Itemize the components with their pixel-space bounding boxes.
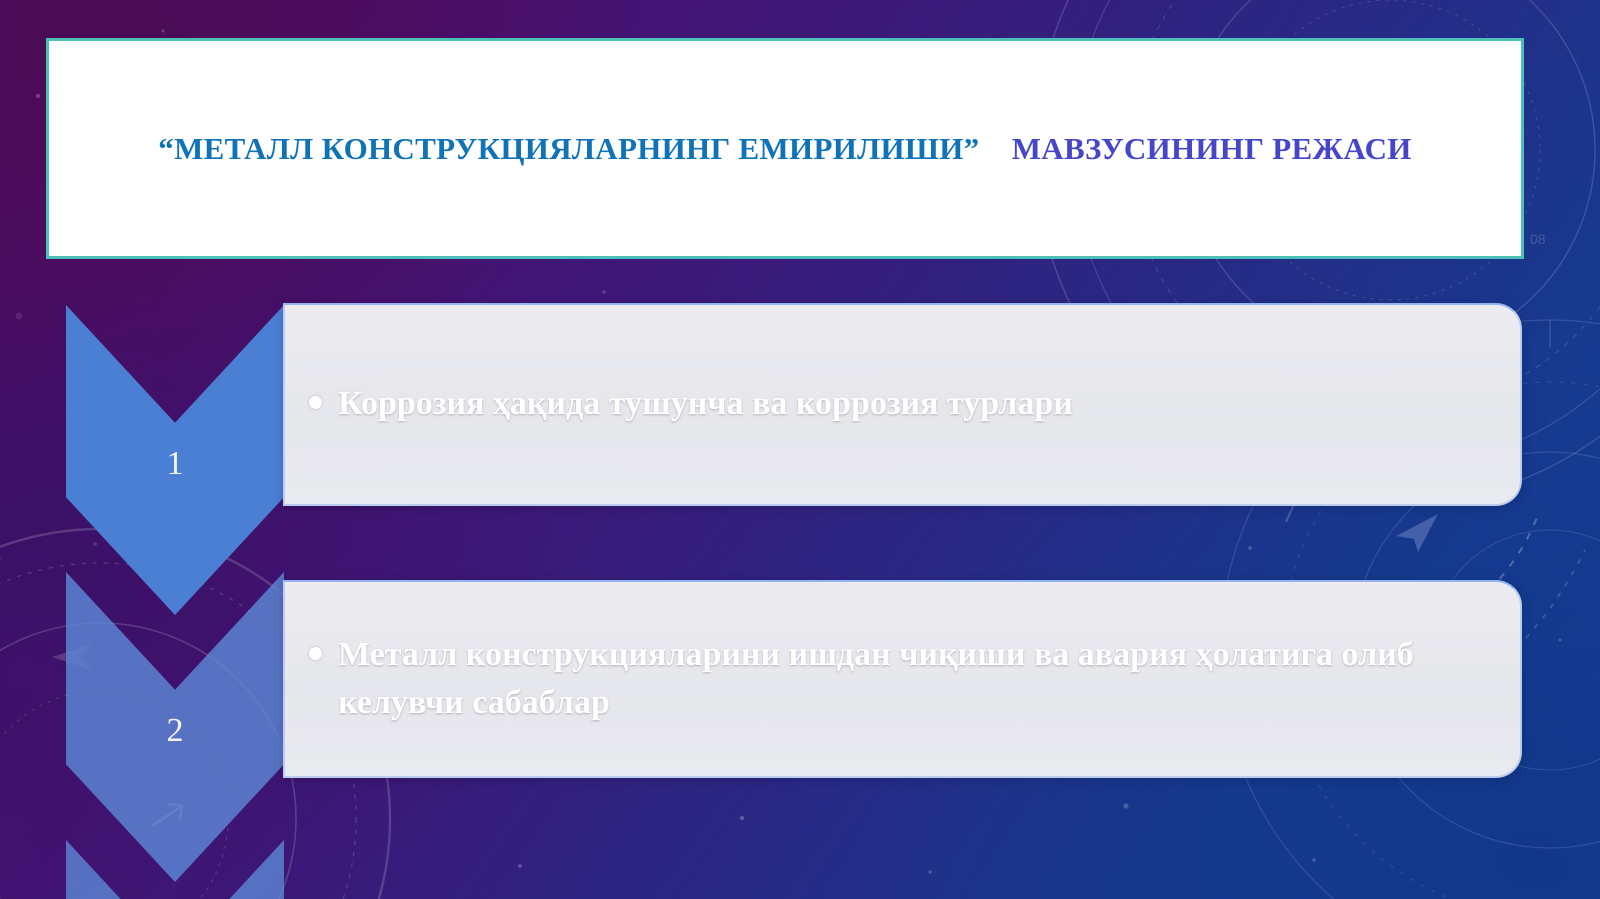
arrow-glyph-right-icon <box>1388 508 1448 558</box>
chevron-badge-1: 1 <box>66 305 284 615</box>
chevron-number-1: 1 <box>167 445 184 483</box>
list-item: Коррозия ҳақида тушунча ва коррозия турл… <box>283 303 1522 506</box>
chevron-number-2: 2 <box>167 712 184 750</box>
svg-text:08: 08 <box>1530 231 1546 247</box>
page-title: “МЕТАЛЛ КОНСТРУКЦИЯЛАРНИНГ ЕМИРИЛИШИ” МА… <box>95 128 1475 169</box>
list-item-text-2: Металл конструкцияларини ишдан чиқиши ва… <box>338 631 1498 728</box>
chevron-badge-2: 2 <box>66 572 284 882</box>
bullet-dot-icon <box>309 647 322 660</box>
list-item: Металл конструкцияларини ишдан чиқиши ва… <box>283 580 1522 778</box>
bullet-dot-icon <box>309 396 322 409</box>
title-segment-blue: “МЕТАЛЛ КОНСТРУКЦИЯЛАРНИНГ ЕМИРИЛИШИ” <box>158 131 979 166</box>
title-segment-purple: МАВЗУСИНИНГ РЕЖАСИ <box>1012 131 1412 166</box>
slide-title-card: “МЕТАЛЛ КОНСТРУКЦИЯЛАРНИНГ ЕМИРИЛИШИ” МА… <box>46 38 1524 259</box>
list-item-text-1: Коррозия ҳақида тушунча ва коррозия турл… <box>338 380 1073 428</box>
presentation-slide: 210 150 08 <box>0 0 1600 899</box>
